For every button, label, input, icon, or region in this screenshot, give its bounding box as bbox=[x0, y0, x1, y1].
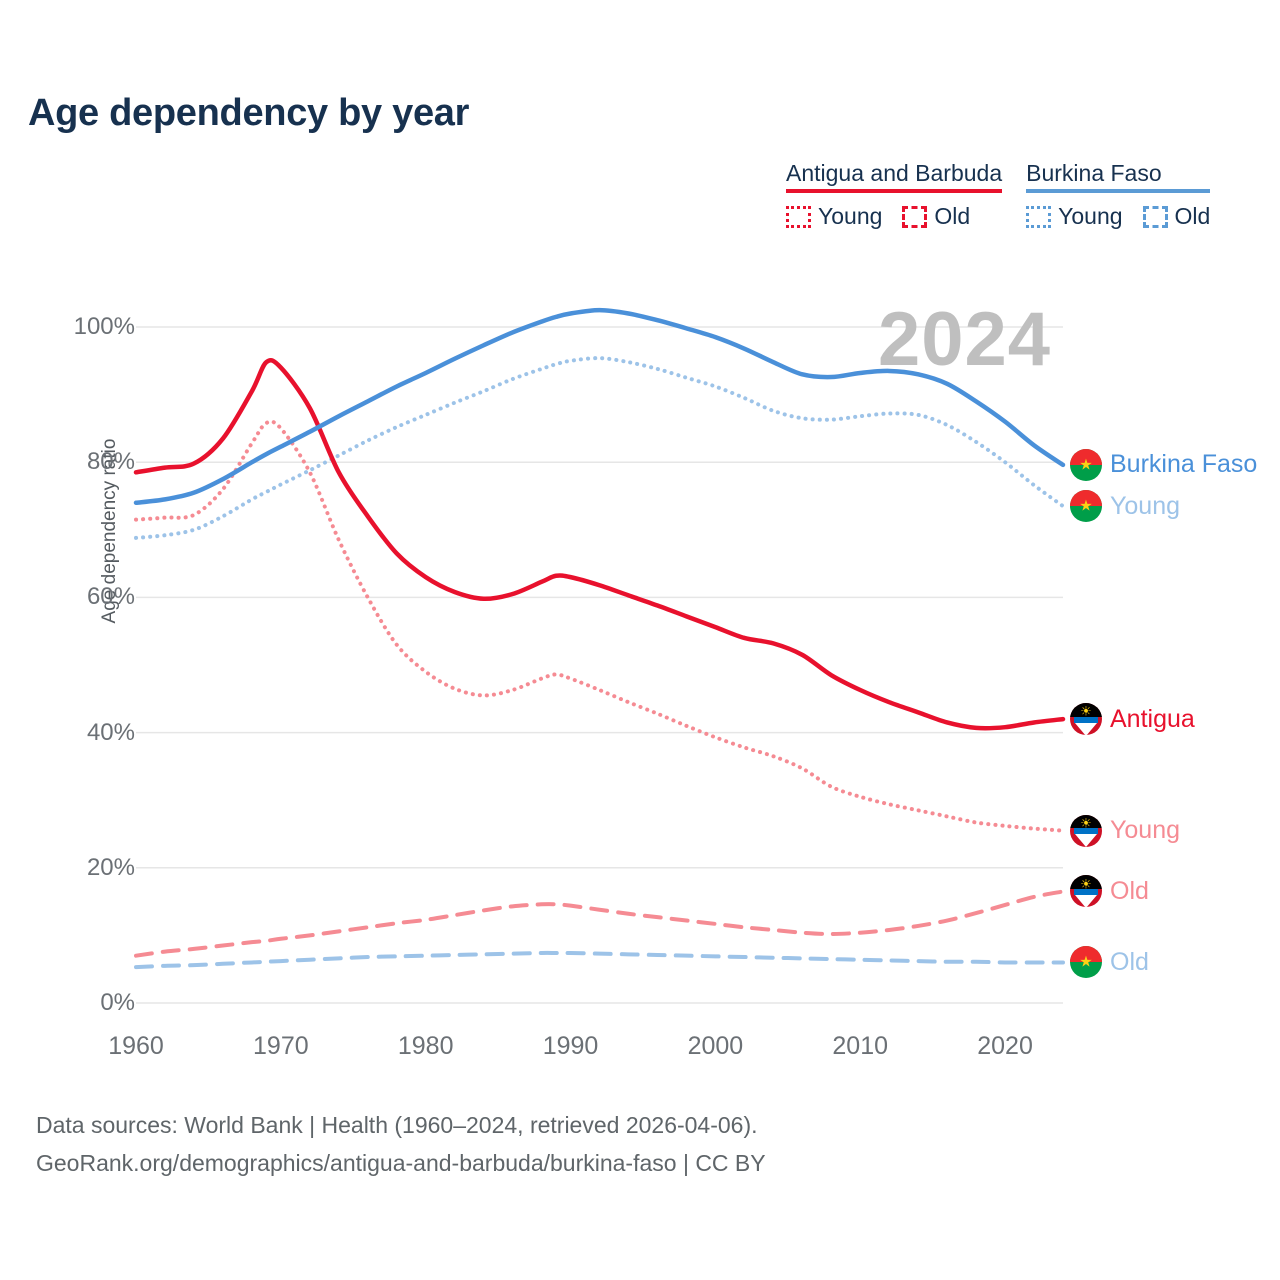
antigua-flag-icon: ☀ bbox=[1070, 875, 1102, 907]
footer-attribution: GeoRank.org/demographics/antigua-and-bar… bbox=[36, 1144, 766, 1182]
antigua-flag-icon: ☀ bbox=[1070, 703, 1102, 735]
burkina-faso-flag-icon: ★ bbox=[1070, 449, 1102, 481]
end-label-burkina-faso-total[interactable]: ★Burkina Faso bbox=[1070, 449, 1257, 481]
chart-plot-area: Age dependency ratio 0%20%40%60%80%100% … bbox=[0, 0, 1280, 1280]
end-label-text: Young bbox=[1110, 492, 1180, 521]
series-line-antigua-old bbox=[136, 891, 1063, 955]
end-label-antigua-old[interactable]: ☀Old bbox=[1070, 875, 1149, 907]
footer-data-sources: Data sources: World Bank | Health (1960–… bbox=[36, 1106, 766, 1144]
antigua-flag-icon: ☀ bbox=[1070, 815, 1102, 847]
end-label-text: Old bbox=[1110, 877, 1149, 906]
burkina-faso-flag-icon: ★ bbox=[1070, 490, 1102, 522]
end-label-burkina-faso-young[interactable]: ★Young bbox=[1070, 490, 1180, 522]
end-label-antigua-total[interactable]: ☀Antigua bbox=[1070, 703, 1195, 735]
year-watermark: 2024 bbox=[878, 296, 1051, 383]
burkina-faso-flag-icon: ★ bbox=[1070, 946, 1102, 978]
end-label-burkina-faso-old[interactable]: ★Old bbox=[1070, 946, 1149, 978]
end-label-antigua-young[interactable]: ☀Young bbox=[1070, 815, 1180, 847]
chart-svg bbox=[0, 0, 1280, 1280]
series-line-antigua-young bbox=[136, 422, 1063, 831]
end-label-text: Old bbox=[1110, 948, 1149, 977]
end-label-text: Burkina Faso bbox=[1110, 450, 1257, 479]
series-line-burkina-old bbox=[136, 953, 1063, 967]
chart-footer: Data sources: World Bank | Health (1960–… bbox=[36, 1106, 766, 1182]
end-label-text: Young bbox=[1110, 816, 1180, 845]
end-label-text: Antigua bbox=[1110, 705, 1195, 734]
